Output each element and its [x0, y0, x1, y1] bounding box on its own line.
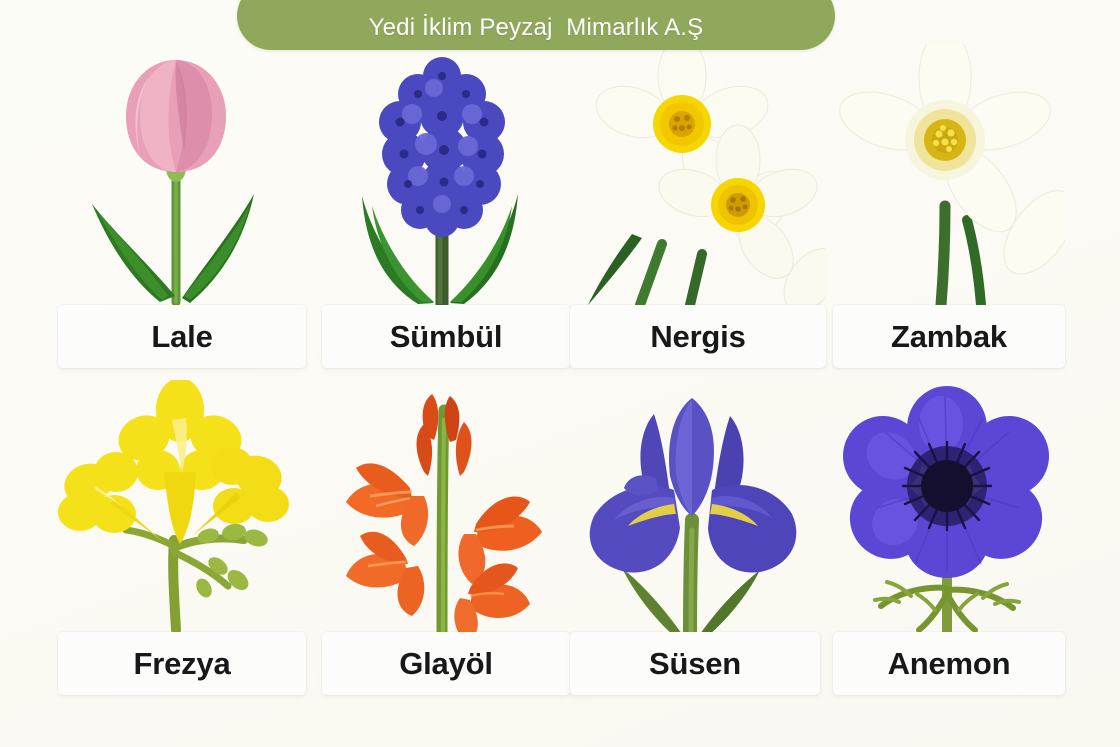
tulip-icon	[58, 44, 306, 306]
label-card-frezya[interactable]: Frezya	[58, 632, 306, 695]
label-card-nergis[interactable]: Nergis	[570, 305, 826, 368]
flower-name: Nergis	[650, 321, 745, 352]
gladiolus-icon	[322, 380, 570, 636]
label-card-glayol[interactable]: Glayöl	[322, 632, 570, 695]
flower-grid: Lale	[0, 0, 1120, 747]
flower-name: Frezya	[133, 648, 230, 679]
label-card-sumbul[interactable]: Sümbül	[322, 305, 570, 368]
hyacinth-icon	[322, 44, 570, 306]
flower-cell-susen[interactable]: Süsen	[570, 380, 820, 636]
flower-cell-nergis[interactable]: Nergis	[570, 44, 826, 306]
iris-icon	[570, 380, 820, 636]
flower-cell-lale[interactable]: Lale	[58, 44, 306, 306]
flower-name: Lale	[151, 321, 212, 352]
page-title: Yedi İklim Peyzaj Mimarlık A.Ş	[369, 14, 704, 42]
freesia-icon	[58, 380, 306, 636]
flower-name: Sümbül	[390, 321, 502, 352]
anemone-icon	[833, 380, 1065, 636]
label-card-zambak[interactable]: Zambak	[833, 305, 1065, 368]
flower-cell-anemon[interactable]: Anemon	[833, 380, 1065, 636]
flower-name: Süsen	[649, 648, 741, 679]
flower-cell-frezya[interactable]: Frezya	[58, 380, 306, 636]
flower-name: Zambak	[891, 321, 1007, 352]
label-card-anemon[interactable]: Anemon	[833, 632, 1065, 695]
flower-cell-sumbul[interactable]: Sümbül	[322, 44, 570, 306]
label-card-susen[interactable]: Süsen	[570, 632, 820, 695]
title-banner: Yedi İklim Peyzaj Mimarlık A.Ş	[237, 0, 835, 50]
flower-name: Anemon	[888, 648, 1011, 679]
flower-name: Glayöl	[399, 648, 493, 679]
flower-cell-zambak[interactable]: Zambak	[833, 44, 1065, 306]
flower-cell-glayol[interactable]: Glayöl	[322, 380, 570, 636]
narcissus-icon	[570, 44, 826, 306]
lily-icon	[833, 44, 1065, 306]
poster-canvas: Yedi İklim Peyzaj Mimarlık A.Ş	[0, 0, 1120, 747]
label-card-lale[interactable]: Lale	[58, 305, 306, 368]
